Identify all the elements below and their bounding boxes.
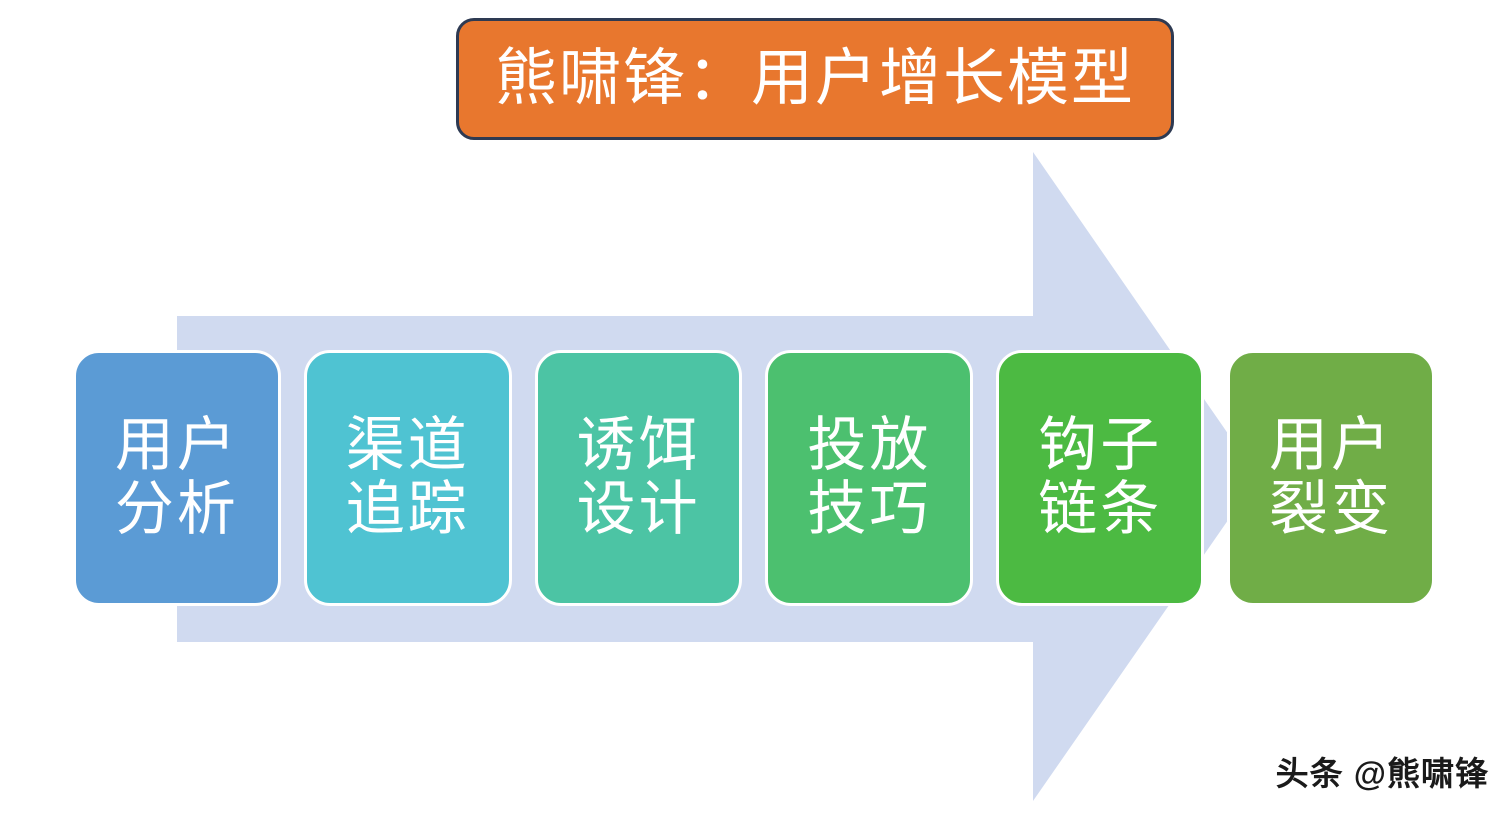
stage-1-line-2: 分析	[115, 478, 239, 542]
stage-row: 用户 分析 渠道 追踪 诱饵 设计 投放 技巧 钩子 链条 用户 裂变	[73, 350, 1435, 606]
stage-box-1[interactable]: 用户 分析	[73, 350, 281, 606]
stage-6-line-2: 裂变	[1269, 478, 1393, 542]
stage-2-line-2: 追踪	[346, 478, 470, 542]
stage-box-3[interactable]: 诱饵 设计	[535, 350, 743, 606]
stage-3-line-1: 诱饵	[577, 414, 701, 478]
stage-1-line-1: 用户	[115, 414, 239, 478]
stage-box-6[interactable]: 用户 裂变	[1227, 350, 1435, 606]
stage-box-5[interactable]: 钩子 链条	[996, 350, 1204, 606]
stage-2-line-1: 渠道	[346, 414, 470, 478]
stage-4-line-1: 投放	[807, 414, 931, 478]
stage-5-line-2: 链条	[1038, 478, 1162, 542]
stage-box-4[interactable]: 投放 技巧	[765, 350, 973, 606]
stage-5-line-1: 钩子	[1038, 414, 1162, 478]
stage-box-2[interactable]: 渠道 追踪	[304, 350, 512, 606]
slide-canvas: 熊啸锋：用户增长模型 用户 分析 渠道 追踪 诱饵 设计 投放 技巧 钩子 链条…	[0, 0, 1505, 817]
page-title: 熊啸锋：用户增长模型	[495, 48, 1135, 110]
stage-6-line-1: 用户	[1269, 414, 1393, 478]
watermark: 头条 @熊啸锋	[1276, 747, 1489, 795]
title-banner: 熊啸锋：用户增长模型	[456, 18, 1174, 140]
stage-4-line-2: 技巧	[807, 478, 931, 542]
stage-3-line-2: 设计	[577, 478, 701, 542]
